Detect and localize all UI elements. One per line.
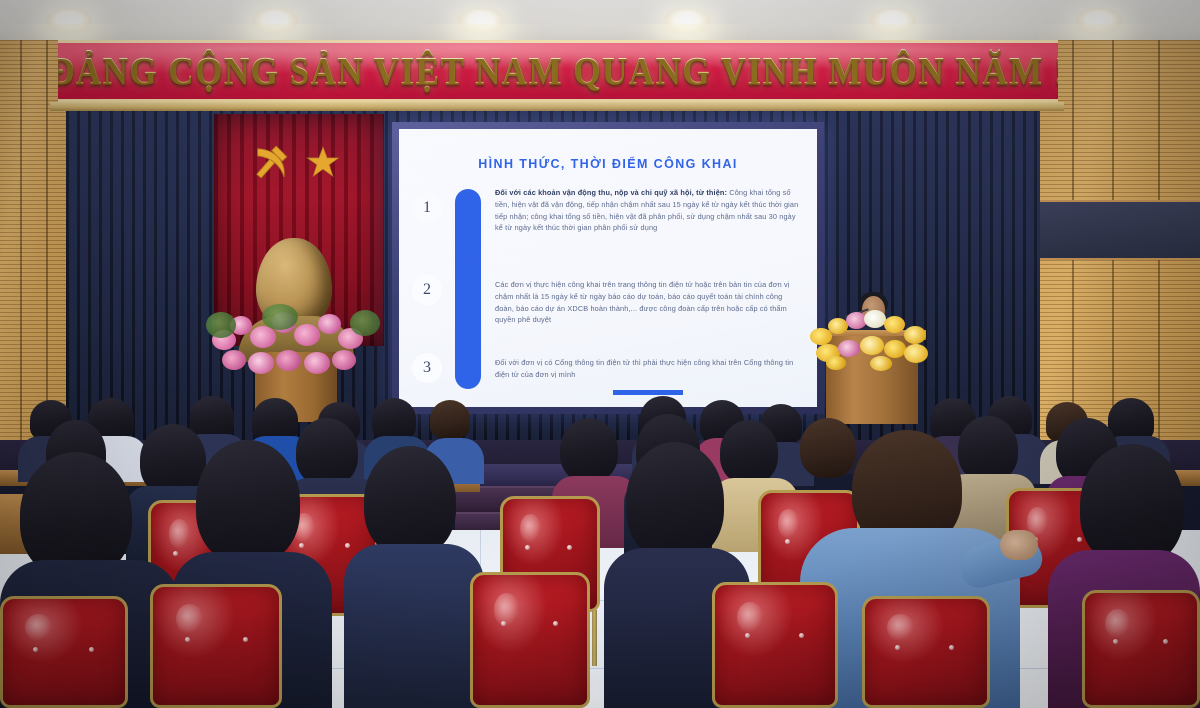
audience-head-foreground xyxy=(1080,444,1184,566)
hammer-and-sickle-icon xyxy=(247,140,293,184)
slide-paragraph-1: Đối với các khoản vận động thu, nộp và c… xyxy=(495,187,803,234)
slide-title: HÌNH THỨC, THỜI ĐIỂM CÔNG KHAI xyxy=(399,157,817,171)
audience-head xyxy=(372,398,416,440)
slide-number-3: 3 xyxy=(412,353,442,383)
wall-seam xyxy=(20,40,22,440)
slide-paragraph-1-lead: Đối với các khoản vận động thu, nộp và c… xyxy=(495,188,727,197)
banner-text: ĐẢNG CỘNG SẢN VIỆT NAM QUANG VINH MUÔN N… xyxy=(58,49,1058,94)
audience-head-foreground xyxy=(626,442,724,560)
ceiling-spotlight xyxy=(458,8,504,34)
audience-head xyxy=(296,418,358,486)
slide-surface: HÌNH THỨC, THỜI ĐIỂM CÔNG KHAI 1 2 3 Đối… xyxy=(399,129,817,407)
audience-head xyxy=(190,396,234,438)
ceiling-spotlight xyxy=(870,8,916,34)
audience-hand xyxy=(1000,530,1038,560)
pink-lotus-arrangement xyxy=(208,302,378,388)
ceiling-spotlight xyxy=(46,8,92,34)
audience-head xyxy=(958,416,1018,482)
wall-dark-band xyxy=(1040,200,1200,260)
banner-ledge xyxy=(50,102,1064,111)
slide-number-1: 1 xyxy=(412,193,442,223)
ceiling-spotlight xyxy=(664,8,710,34)
audience-head xyxy=(800,418,856,478)
yellow-chrysanthemum-arrangement xyxy=(808,306,934,368)
slide-accent-bar xyxy=(455,189,481,389)
audience-chair-foreground xyxy=(150,584,282,708)
audience-chair-foreground xyxy=(470,572,590,708)
gold-star-icon xyxy=(305,145,341,179)
audience-head xyxy=(560,418,618,482)
slide-paragraph-2: Các đơn vị thực hiện công khai trên tran… xyxy=(495,279,803,326)
audience-head-foreground xyxy=(196,440,300,564)
conference-hall-photo: ĐẢNG CỘNG SẢN VIỆT NAM QUANG VINH MUÔN N… xyxy=(0,0,1200,708)
audience-head xyxy=(430,400,470,438)
slide-bottom-accent xyxy=(613,390,683,395)
audience-chair-foreground xyxy=(862,596,990,708)
ceiling-spotlight xyxy=(252,8,298,34)
slide-number-2: 2 xyxy=(412,275,442,305)
slide-paragraph-3-body: Đối với đơn vị có Cổng thông tin điện tử… xyxy=(495,358,793,379)
audience-torso-foreground xyxy=(344,544,484,708)
ceiling xyxy=(0,0,1200,44)
wall-seam xyxy=(46,40,48,440)
wooden-slat-wall-left xyxy=(0,40,66,440)
slide-paragraph-3: Đối với đơn vị có Cổng thông tin điện tử… xyxy=(495,357,803,381)
audience-chair-foreground xyxy=(1082,590,1200,708)
party-slogan-banner: ĐẢNG CỘNG SẢN VIỆT NAM QUANG VINH MUÔN N… xyxy=(58,40,1058,102)
audience-head-foreground xyxy=(364,446,456,556)
audience-head xyxy=(720,420,778,484)
chair-leg xyxy=(592,610,597,666)
projection-screen: HÌNH THỨC, THỜI ĐIỂM CÔNG KHAI 1 2 3 Đối… xyxy=(392,122,824,414)
slide-paragraph-2-body: Các đơn vị thực hiện công khai trên tran… xyxy=(495,280,790,324)
audience-chair-foreground xyxy=(712,582,838,708)
ceiling-spotlight xyxy=(1076,8,1122,34)
audience-chair-foreground xyxy=(0,596,128,708)
